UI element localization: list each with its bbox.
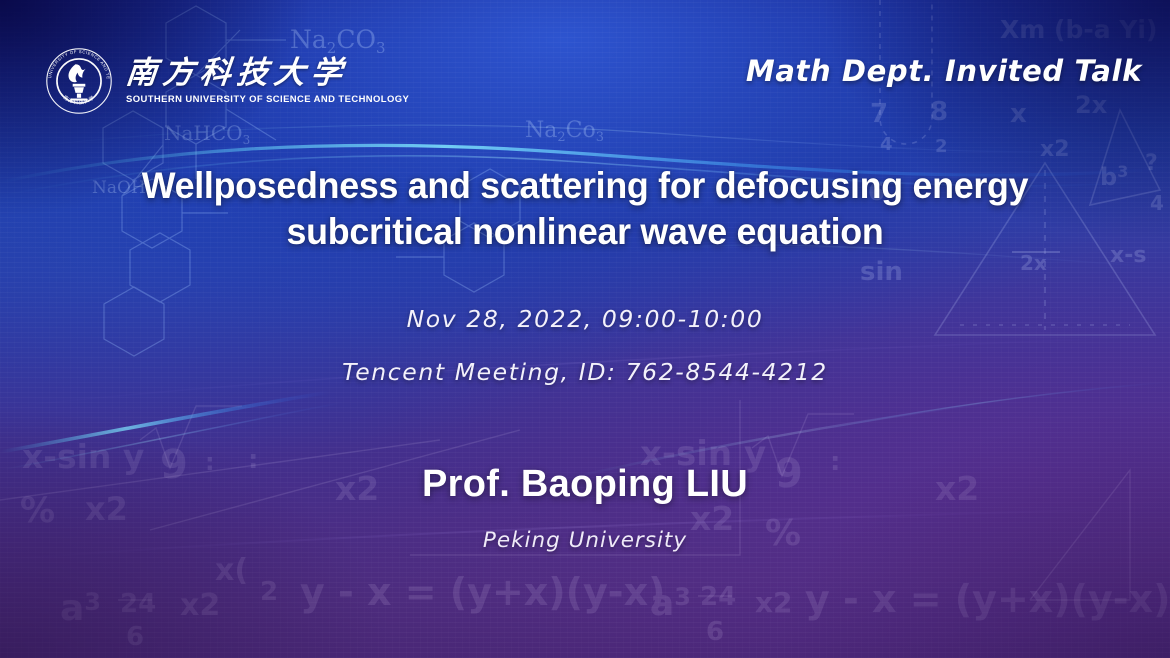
speaker-affiliation: Peking University bbox=[0, 528, 1170, 553]
talk-title: Wellposedness and scattering for defocus… bbox=[26, 163, 1143, 255]
university-logo: SOUTHERN UNIVERSITY OF SCIENCE AND TECHN… bbox=[44, 46, 414, 116]
event-series-kicker: Math Dept. Invited Talk bbox=[746, 54, 1142, 88]
speaker-name: Prof. Baoping LIU bbox=[0, 463, 1170, 506]
seminar-poster: Na2CO3 Na2Co3 NaHCO3 NaOH Xm (b-a Yi) 7 … bbox=[0, 0, 1170, 658]
logo-wordmark: 南方科技大学 SOUTHERN UNIVERSITY OF SCIENCE AN… bbox=[126, 57, 414, 105]
logo-name-cn: 南方科技大学 bbox=[124, 57, 415, 88]
talk-meta: Nov 28, 2022, 09:00-10:00 Tencent Meetin… bbox=[0, 305, 1170, 386]
logo-name-en: SOUTHERN UNIVERSITY OF SCIENCE AND TECHN… bbox=[126, 95, 409, 105]
talk-meeting-id: Tencent Meeting, ID: 762-8544-4212 bbox=[0, 358, 1170, 386]
talk-datetime: Nov 28, 2022, 09:00-10:00 bbox=[0, 305, 1170, 333]
sustech-crest-emblem: SOUTHERN UNIVERSITY OF SCIENCE AND TECHN… bbox=[44, 46, 114, 116]
poster-content: SOUTHERN UNIVERSITY OF SCIENCE AND TECHN… bbox=[0, 0, 1170, 658]
